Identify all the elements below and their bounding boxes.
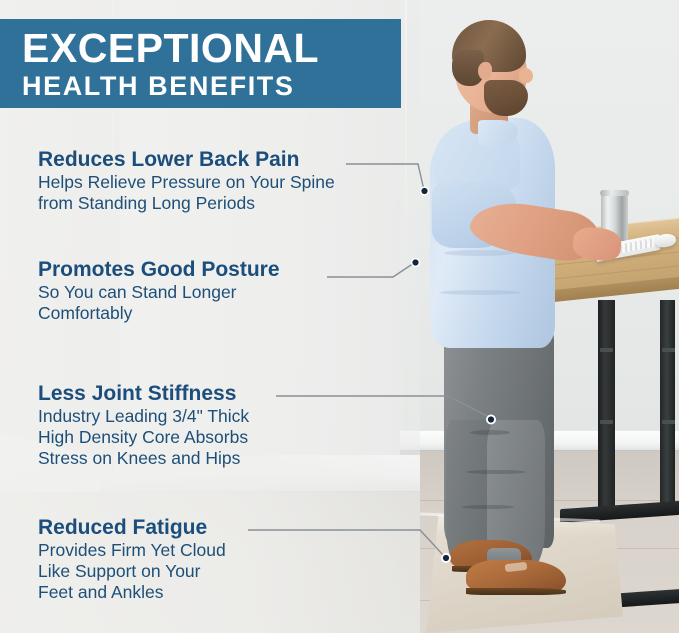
wall-seam-right [405,0,407,470]
shirt-fold [440,290,520,295]
benefit-line: High Density Core Absorbs [38,427,249,448]
benefit-title: Less Joint Stiffness [38,382,249,406]
desk-leg-bracket [600,348,613,352]
pants-crease [466,470,526,474]
benefit-block-4: Reduced Fatigue Provides Firm Yet Cloud … [38,516,226,603]
benefit-line: Provides Firm Yet Cloud [38,540,226,561]
pants-crease [462,505,514,509]
benefit-block-3: Less Joint Stiffness Industry Leading 3/… [38,382,249,469]
benefit-title: Reduces Lower Back Pain [38,148,335,172]
benefit-line: Comfortably [38,303,280,324]
desk-leg-bracket [662,348,675,352]
tumbler-lid [600,190,629,196]
banner-headline-secondary: HEALTH BENEFITS [22,71,401,101]
desk-leg-bracket [662,420,675,424]
person-nose [519,68,533,83]
shirt-fold [444,250,514,256]
benefit-line: Feet and Ankles [38,582,226,603]
desk-leg-column-front [598,300,615,515]
benefit-line: Helps Relieve Pressure on Your Spine [38,172,335,193]
benefit-line: Stress on Knees and Hips [38,448,249,469]
pants-crease [470,430,510,435]
benefit-line: Like Support on Your [38,561,226,582]
infographic-canvas: EXCEPTIONAL HEALTH BENEFITS Reduces Lowe… [0,0,679,633]
benefit-line: So You can Stand Longer [38,282,280,303]
benefit-block-2: Promotes Good Posture So You can Stand L… [38,258,280,324]
benefit-line: Industry Leading 3/4" Thick [38,406,249,427]
person-shoe-front-sole [466,588,566,595]
desk-leg-column-back [660,300,675,515]
person-ear [478,62,492,80]
benefit-line: from Standing Long Periods [38,193,335,214]
desk-leg-bracket [600,420,613,424]
benefit-title: Promotes Good Posture [38,258,280,282]
benefit-title: Reduced Fatigue [38,516,226,540]
header-banner: EXCEPTIONAL HEALTH BENEFITS [0,19,401,108]
banner-headline-primary: EXCEPTIONAL [22,27,401,70]
benefit-block-1: Reduces Lower Back Pain Helps Relieve Pr… [38,148,335,214]
